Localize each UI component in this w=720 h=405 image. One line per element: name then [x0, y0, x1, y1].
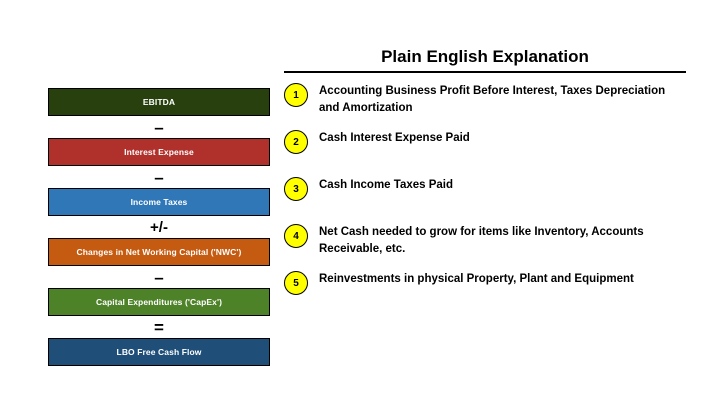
operator-minus-1: – — [48, 116, 270, 138]
number-badge-icon: 4 — [284, 224, 308, 248]
lbo-free-cash-flow-waterfall: EBITDA – Interest Expense – Income Taxes… — [48, 88, 270, 366]
number-badge-icon: 2 — [284, 130, 308, 154]
operator-minus-3: – — [48, 266, 270, 288]
flow-box-ebitda[interactable]: EBITDA — [48, 88, 270, 116]
explanation-item-4: 4 Net Cash needed to grow for items like… — [284, 223, 686, 261]
flow-box-label: EBITDA — [139, 98, 179, 107]
flow-box-label: Capital Expenditures ('CapEx') — [92, 298, 226, 307]
explanation-title: Plain English Explanation — [284, 48, 686, 71]
number-badge-icon: 5 — [284, 271, 308, 295]
operator-minus-2: – — [48, 166, 270, 188]
explanation-item-text: Accounting Business Profit Before Intere… — [319, 82, 686, 116]
flow-box-interest-expense[interactable]: Interest Expense — [48, 138, 270, 166]
operator-equals: = — [48, 316, 270, 338]
flow-row-capital-expenditures: Capital Expenditures ('CapEx') — [48, 288, 270, 316]
explanation-item-text: Net Cash needed to grow for items like I… — [319, 223, 686, 257]
flow-box-label: LBO Free Cash Flow — [113, 348, 206, 357]
flow-row-income-taxes: Income Taxes — [48, 188, 270, 216]
explanation-item-text: Cash Interest Expense Paid — [319, 129, 470, 147]
flow-box-income-taxes[interactable]: Income Taxes — [48, 188, 270, 216]
explanation-item-text: Cash Income Taxes Paid — [319, 176, 453, 194]
flow-box-label: Changes in Net Working Capital ('NWC') — [73, 248, 246, 257]
explanation-title-divider — [284, 71, 686, 74]
flow-box-lbo-free-cash-flow[interactable]: LBO Free Cash Flow — [48, 338, 270, 366]
flow-box-label: Income Taxes — [127, 198, 192, 207]
flow-row-lbo-free-cash-flow: LBO Free Cash Flow — [48, 338, 270, 366]
explanation-panel: Plain English Explanation 1 Accounting B… — [284, 48, 686, 317]
explanation-item-3: 3 Cash Income Taxes Paid — [284, 176, 686, 214]
explanation-item-text: Reinvestments in physical Property, Plan… — [319, 270, 634, 288]
explanation-item-1: 1 Accounting Business Profit Before Inte… — [284, 82, 686, 120]
explanation-item-2: 2 Cash Interest Expense Paid — [284, 129, 686, 167]
flow-row-net-working-capital: Changes in Net Working Capital ('NWC') — [48, 238, 270, 266]
number-badge-icon: 1 — [284, 83, 308, 107]
flow-row-ebitda: EBITDA — [48, 88, 270, 116]
number-badge-icon: 3 — [284, 177, 308, 201]
flow-row-interest-expense: Interest Expense — [48, 138, 270, 166]
explanation-item-5: 5 Reinvestments in physical Property, Pl… — [284, 270, 686, 308]
operator-plus-minus: +/- — [48, 216, 270, 238]
flow-box-net-working-capital[interactable]: Changes in Net Working Capital ('NWC') — [48, 238, 270, 266]
flow-box-capital-expenditures[interactable]: Capital Expenditures ('CapEx') — [48, 288, 270, 316]
flow-box-label: Interest Expense — [120, 148, 198, 157]
